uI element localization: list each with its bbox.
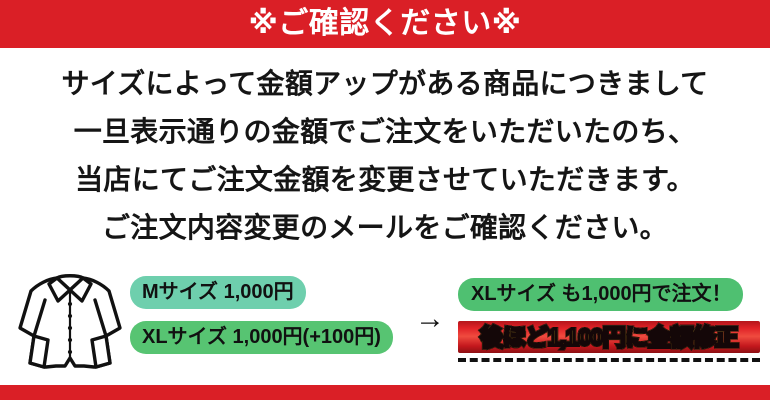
price-comparison-area: Mサイズ 1,000円 XLサイズ 1,000円(+100円) → XLサイズ … [0, 262, 770, 384]
price-correction-ribbon: 後ほど1,100円に金額修正 後ほど1,100円に金額修正 [458, 321, 760, 353]
dress-shirt-icon [14, 266, 126, 378]
before-price-group: Mサイズ 1,000円 XLサイズ 1,000円(+100円) [130, 276, 392, 354]
after-price-group: XLサイズ も1,000円で注文！ 後ほど1,100円に金額修正 後ほど1,10… [458, 278, 764, 362]
arrow-right-icon: → [405, 304, 455, 334]
message-line-2: 一旦表示通りの金額でご注文をいただいたのち、 [0, 108, 770, 156]
price-correction-label: 後ほど1,100円に金額修正 [458, 321, 760, 353]
notice-banner: ※ご確認ください※ サイズによって金額アップがある商品につきまして 一旦表示通り… [0, 0, 770, 400]
badge-order-xl: XLサイズ も1,000円で注文！ [458, 278, 743, 311]
message-line-4: ご注文内容変更のメールをご確認ください。 [0, 204, 770, 252]
dashed-underline [458, 358, 760, 362]
badge-size-m: Mサイズ 1,000円 [130, 276, 306, 309]
message-line-1: サイズによって金額アップがある商品につきまして [0, 60, 770, 108]
footer-band [0, 385, 770, 400]
message-block: サイズによって金額アップがある商品につきまして 一旦表示通りの金額でご注文をいた… [0, 60, 770, 252]
message-line-3: 当店にてご注文金額を変更させていただきます。 [0, 156, 770, 204]
badge-size-xl: XLサイズ 1,000円(+100円) [130, 321, 393, 354]
page-title: ※ご確認ください※ [0, 0, 770, 48]
